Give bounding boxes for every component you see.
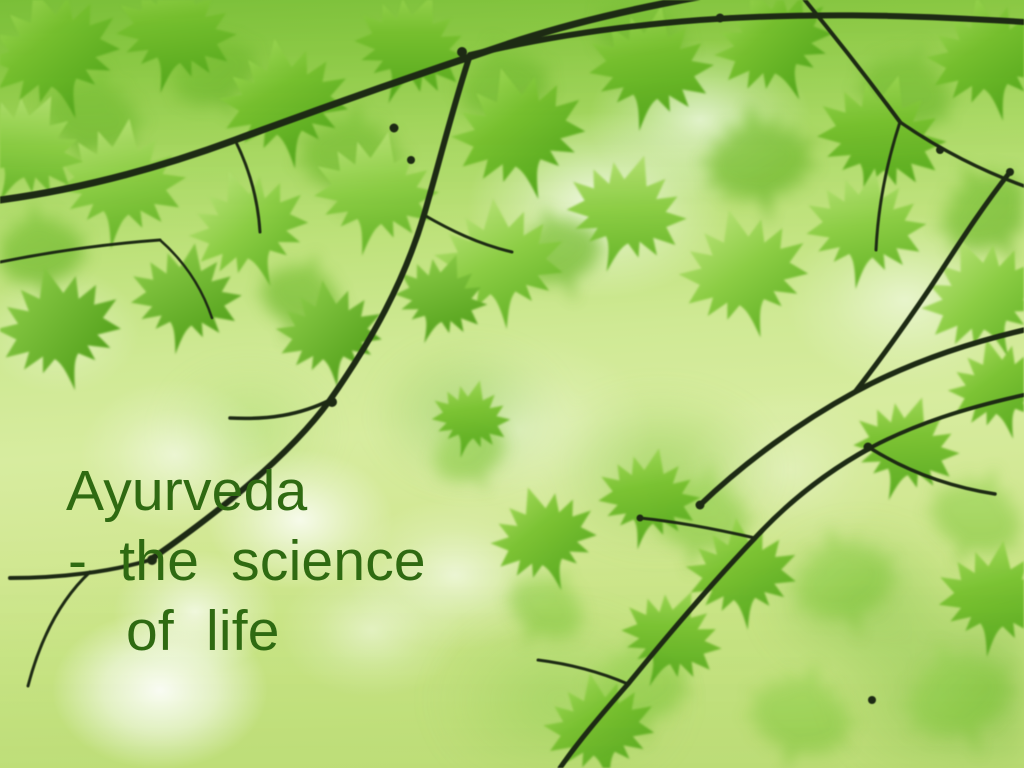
title-line-1: Ayurveda bbox=[66, 456, 766, 526]
title-line-3: of life bbox=[66, 596, 766, 666]
slide-title: Ayurveda - the science of life bbox=[66, 456, 766, 666]
title-line-2: - the science bbox=[66, 526, 766, 596]
title-slide: Ayurveda - the science of life bbox=[0, 0, 1024, 768]
